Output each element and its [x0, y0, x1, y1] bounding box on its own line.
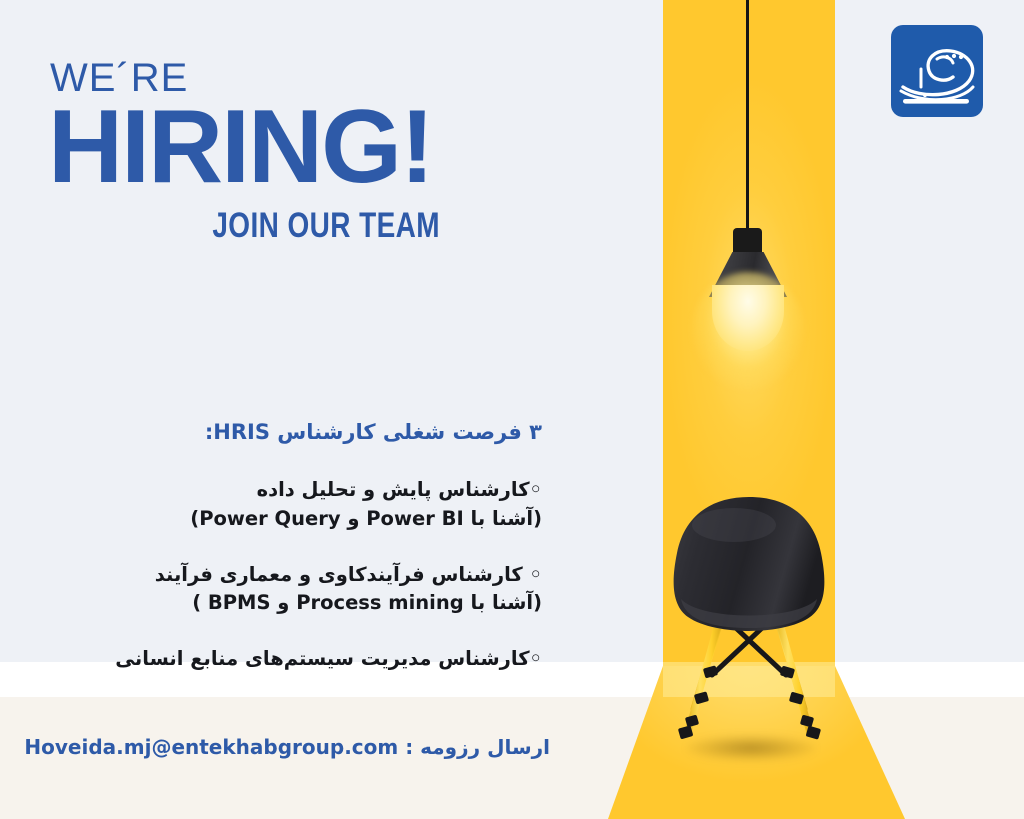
- job-item-detail: (آشنا با Process mining و BPMS ): [80, 589, 542, 617]
- headline-join: JOIN OUR TEAM: [126, 208, 440, 243]
- job-item: ◦ کارشناس فرآیندکاوی و معماری فرآیند (آش…: [80, 561, 542, 618]
- office-chair-icon: [646, 495, 856, 765]
- job-item: ◦کارشناس پایش و تحلیل داده (آشنا با Powe…: [80, 476, 542, 533]
- hiring-poster: WE´RE HIRING! JOIN OUR TEAM ۳ فرصت شغلی …: [0, 0, 1024, 819]
- entekhab-logo: [891, 25, 983, 117]
- job-item: ◦کارشناس مدیریت سیستم‌های منابع انسانی: [80, 645, 542, 673]
- job-item-title: ◦کارشناس مدیریت سیستم‌های منابع انسانی: [80, 645, 542, 673]
- lamp-cord-icon: [746, 0, 749, 228]
- job-listing: ۳ فرصت شغلی کارشناس HRIS: ◦کارشناس پایش …: [80, 418, 542, 674]
- job-item-detail: (آشنا با Power BI و Power Query): [80, 505, 542, 533]
- lamp-neck-icon: [733, 228, 762, 256]
- office-chair: [646, 495, 856, 765]
- contact-label: ارسال رزومه :: [405, 735, 550, 759]
- job-item-title: ◦ کارشناس فرآیندکاوی و معماری فرآیند: [80, 561, 542, 589]
- entekhab-logo-icon: [891, 25, 983, 117]
- job-item-title: ◦کارشناس پایش و تحلیل داده: [80, 476, 542, 504]
- headline-hiring: HIRING!: [48, 100, 608, 196]
- contact-row: ارسال رزومه : Hoveida.mj@entekhabgroup.c…: [80, 735, 550, 759]
- contact-email[interactable]: Hoveida.mj@entekhabgroup.com: [24, 735, 398, 759]
- job-listing-title: ۳ فرصت شغلی کارشناس HRIS:: [80, 418, 542, 446]
- headline-block: WE´RE HIRING! JOIN OUR TEAM: [48, 58, 608, 243]
